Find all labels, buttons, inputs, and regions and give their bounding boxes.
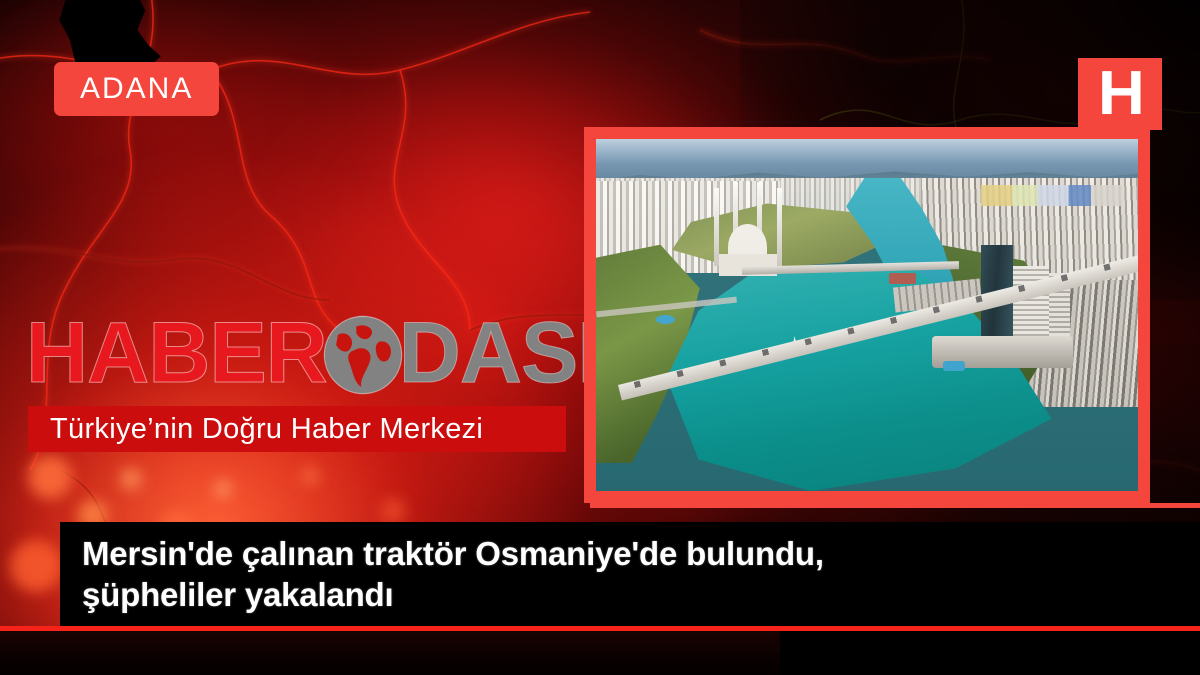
logo-text-haber: HABER — [26, 310, 327, 396]
photo-baseline-rule — [590, 503, 1200, 508]
article-photo — [596, 139, 1138, 491]
globe-icon — [321, 313, 405, 397]
bokeh-dot — [120, 468, 142, 490]
site-logo: HABER DASI — [26, 302, 586, 404]
brand-mark-letter: H — [1098, 63, 1143, 125]
news-card: ADANA H HABER DASI Türkiye’nin Doğru — [0, 0, 1200, 675]
bottom-bar-right — [780, 631, 1200, 675]
bokeh-dot — [28, 455, 72, 499]
logo-text-dasi: DASI — [399, 310, 600, 396]
headline-line-2: şüpheliler yakalandı — [82, 575, 1200, 616]
bokeh-dot — [10, 540, 62, 592]
article-photo-frame — [584, 127, 1150, 503]
bokeh-dot — [214, 480, 232, 498]
bokeh-dot — [380, 498, 406, 524]
headline-band: Mersin'de çalınan traktör Osmaniye'de bu… — [60, 522, 1200, 626]
brand-mark: H — [1078, 58, 1162, 130]
headline-text: Mersin'de çalınan traktör Osmaniye'de bu… — [60, 522, 1200, 615]
city-badge: ADANA — [54, 62, 219, 116]
tagline-text: Türkiye’nin Doğru Haber Merkezi — [28, 415, 483, 444]
tagline-bar: Türkiye’nin Doğru Haber Merkezi — [28, 406, 566, 452]
bokeh-dot — [300, 466, 320, 486]
headline-line-1: Mersin'de çalınan traktör Osmaniye'de bu… — [82, 534, 1200, 575]
